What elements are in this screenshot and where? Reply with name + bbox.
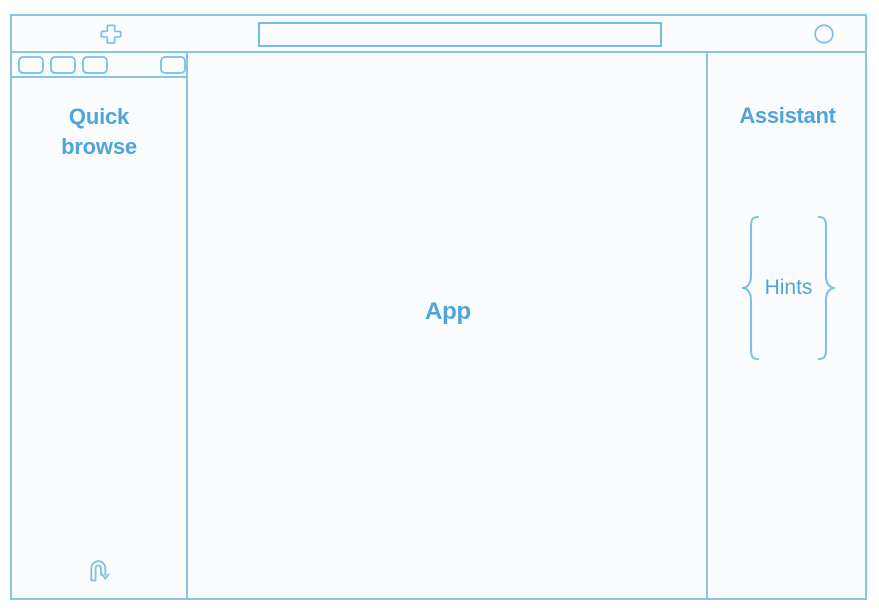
top-bar	[12, 16, 865, 53]
window-body: Quick browse App Assistant	[12, 53, 865, 598]
sidebar-toolbar	[12, 53, 186, 78]
new-tab-button[interactable]	[12, 16, 210, 51]
sidebar-toolbar-button-2[interactable]	[50, 56, 76, 74]
sidebar-title-line-2: browse	[12, 132, 186, 162]
brace-right-icon	[816, 214, 838, 362]
circle-icon	[813, 23, 835, 45]
hints-label: Hints	[761, 276, 817, 300]
sidebar-toolbar-button-1[interactable]	[18, 56, 44, 74]
brace-left-icon	[739, 214, 761, 362]
sidebar-panel: Quick browse	[12, 53, 188, 598]
assistant-title: Assistant	[710, 103, 865, 129]
wireframe-canvas: Quick browse App Assistant	[0, 0, 879, 616]
profile-button[interactable]	[783, 16, 865, 51]
app-panel[interactable]: App	[190, 53, 708, 598]
sidebar-footer	[12, 556, 186, 584]
sidebar-title-line-1: Quick	[12, 102, 186, 132]
address-input[interactable]	[258, 22, 662, 47]
hints-block: Hints	[722, 213, 855, 363]
u-turn-arrow-icon[interactable]	[85, 556, 113, 584]
plus-icon	[100, 23, 122, 45]
assistant-panel: Assistant Hints	[710, 53, 865, 598]
sidebar-toolbar-button-3[interactable]	[82, 56, 108, 74]
sidebar-title: Quick browse	[12, 102, 186, 161]
app-panel-label: App	[425, 298, 471, 326]
browser-window: Quick browse App Assistant	[10, 14, 867, 600]
sidebar-toolbar-button-4[interactable]	[160, 56, 186, 74]
